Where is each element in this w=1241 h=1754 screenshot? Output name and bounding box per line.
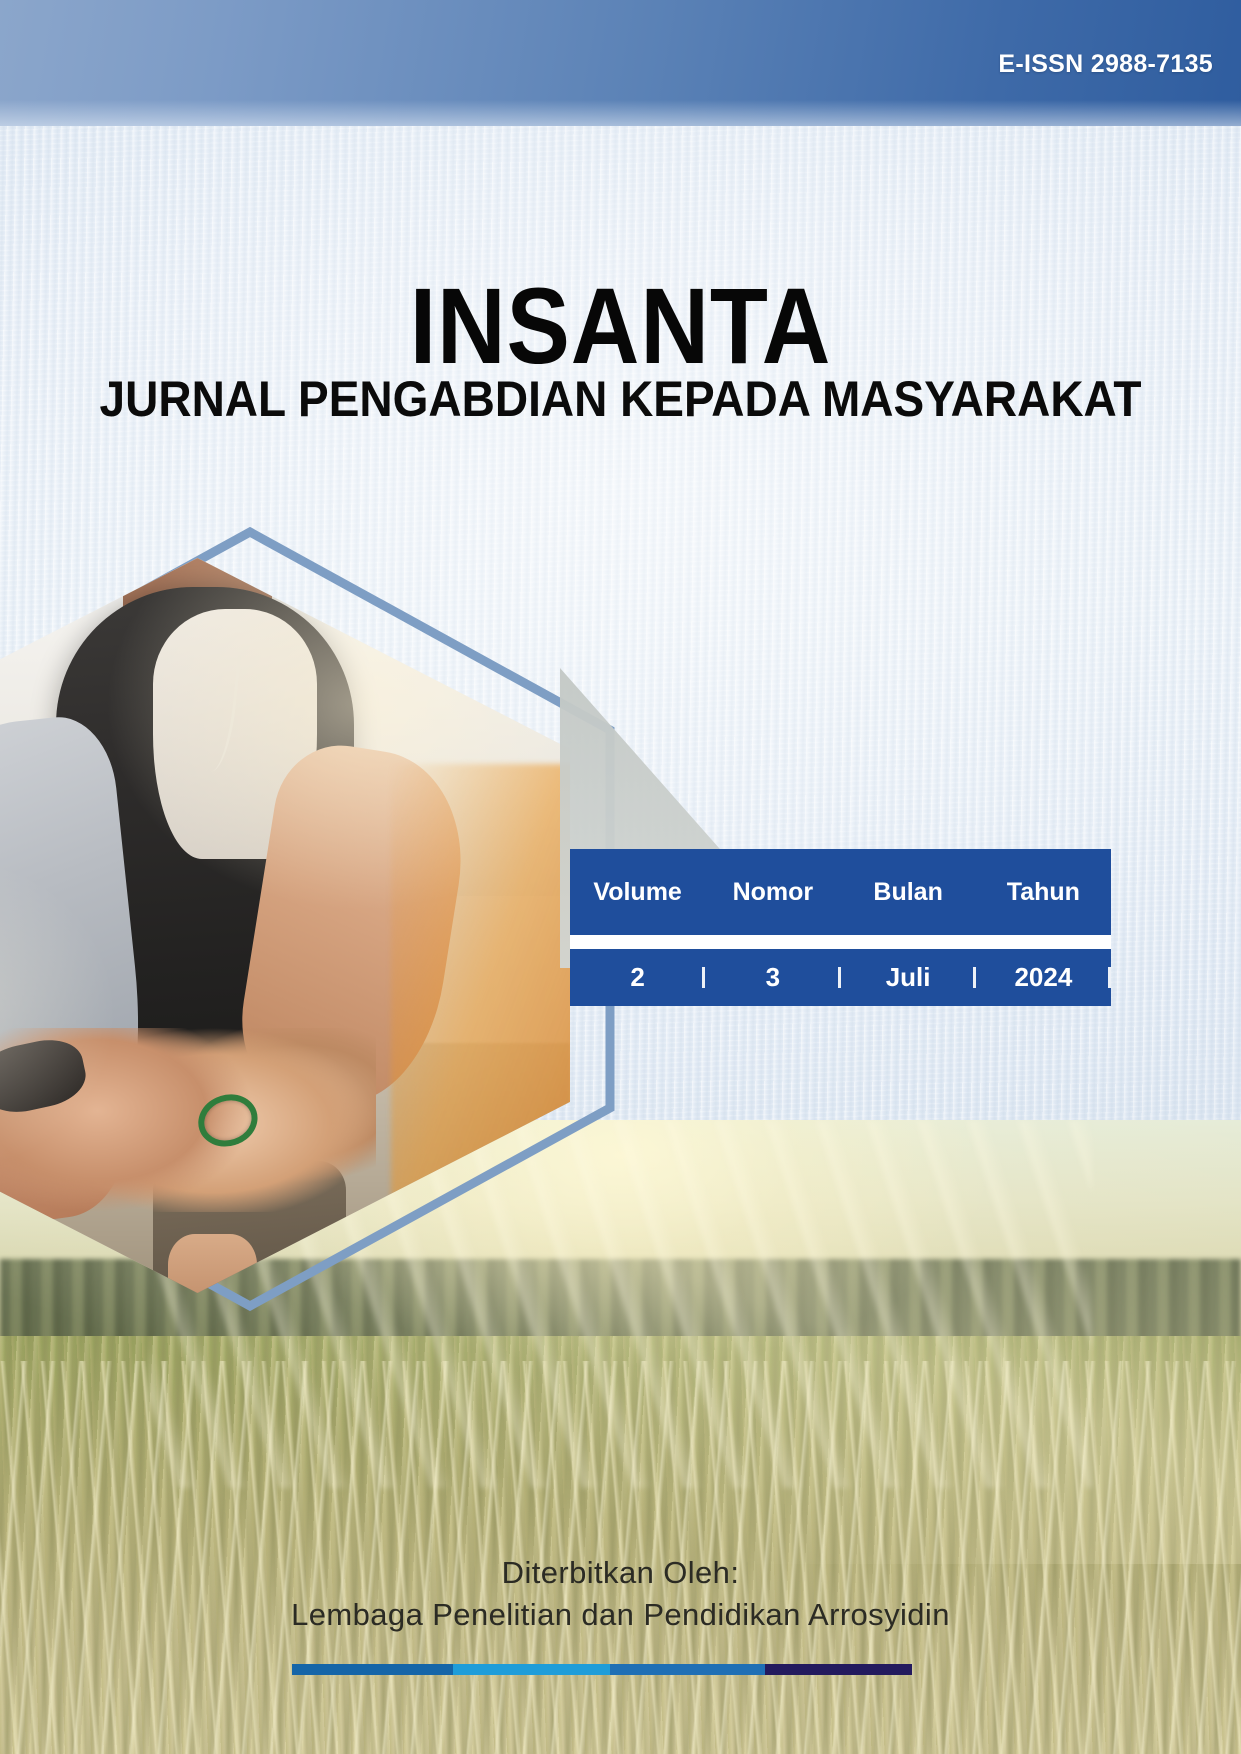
- color-bar-segment-4: [765, 1664, 912, 1675]
- issue-value-bulan: Juli: [841, 962, 976, 993]
- color-bar-segment-3: [610, 1664, 764, 1675]
- issue-header-volume: Volume: [570, 878, 705, 907]
- issue-info-values-panel: 2 3 Juli 2024: [570, 949, 1111, 1006]
- footer-color-bar: [292, 1664, 912, 1675]
- publisher-prefix: Diterbitkan Oleh:: [0, 1555, 1241, 1591]
- journal-cover: E-ISSN 2988-7135 INSANTA JURNAL PENGABDI…: [0, 0, 1241, 1754]
- issue-value-volume: 2: [570, 962, 705, 993]
- issue-info-values-row: 2 3 Juli 2024: [570, 949, 1111, 1006]
- publisher-name: Lembaga Penelitian dan Pendidikan Arrosy…: [0, 1597, 1241, 1633]
- journal-subtitle: JURNAL PENGABDIAN KEPADA MASYARAKAT: [50, 372, 1192, 427]
- issue-value-tahun: 2024: [976, 962, 1111, 993]
- issue-header-nomor: Nomor: [705, 878, 840, 907]
- issue-info-header-row: Volume Nomor Bulan Tahun: [570, 849, 1111, 935]
- eissn-label: E-ISSN 2988-7135: [998, 50, 1213, 79]
- issue-divider-4: [1108, 967, 1111, 988]
- publisher-block: Diterbitkan Oleh: Lembaga Penelitian dan…: [0, 1555, 1241, 1633]
- issue-info-header-panel: Volume Nomor Bulan Tahun: [570, 849, 1111, 935]
- issue-header-bulan: Bulan: [841, 878, 976, 907]
- color-bar-segment-1: [292, 1664, 453, 1675]
- color-bar-segment-2: [453, 1664, 610, 1675]
- issue-value-nomor: 3: [705, 962, 840, 993]
- issue-header-tahun: Tahun: [976, 878, 1111, 907]
- issue-info-white-separator: [570, 935, 1111, 949]
- journal-title: INSANTA: [74, 272, 1166, 380]
